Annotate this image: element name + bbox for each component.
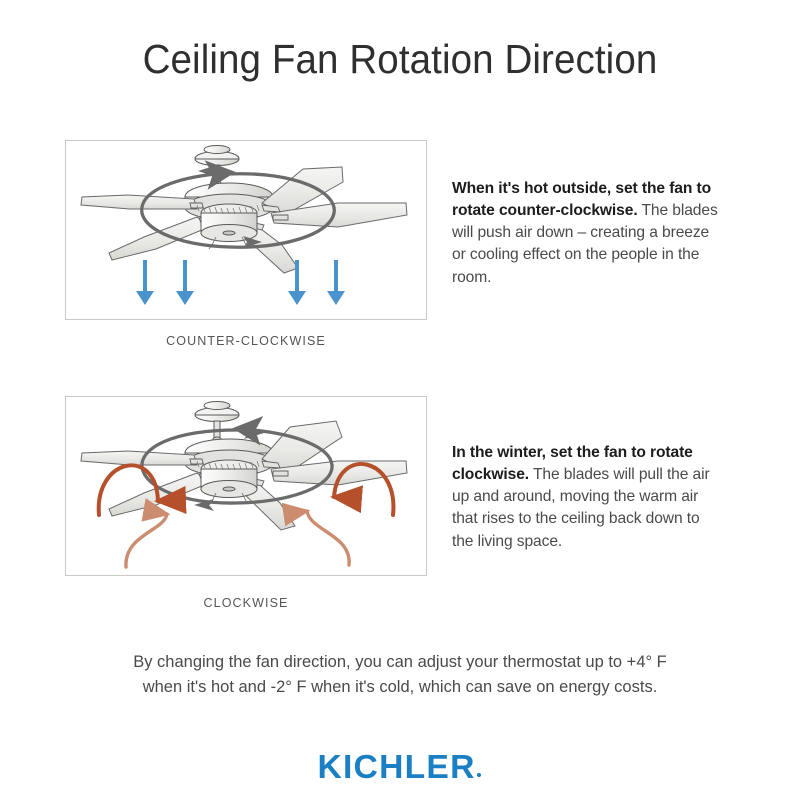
- brand-logo-wordmark: KICHLER: [317, 748, 475, 786]
- brand-logo: KICHLER: [0, 748, 800, 786]
- panel-caption-clockwise: CLOCKWISE: [65, 596, 427, 610]
- brand-logo-dot: [477, 773, 481, 777]
- description-clockwise: In the winter, set the fan to rotate clo…: [452, 442, 720, 553]
- panel-caption-counter-clockwise: COUNTER-CLOCKWISE: [65, 334, 427, 348]
- description-counter-clockwise: When it's hot outside, set the fan to ro…: [452, 178, 720, 289]
- panel-clockwise-frame: [65, 396, 427, 576]
- footer-note: By changing the fan direction, you can a…: [0, 650, 800, 700]
- ceiling-fan-illustration-counter-clockwise: [66, 141, 426, 319]
- footer-note-line-2: when it's hot and -2° F when it's cold, …: [0, 675, 800, 700]
- ceiling-fan-illustration-clockwise: [66, 397, 426, 575]
- footer-note-line-1: By changing the fan direction, you can a…: [0, 650, 800, 675]
- page-title: Ceiling Fan Rotation Direction: [24, 36, 776, 83]
- panel-counter-clockwise-frame: [65, 140, 427, 320]
